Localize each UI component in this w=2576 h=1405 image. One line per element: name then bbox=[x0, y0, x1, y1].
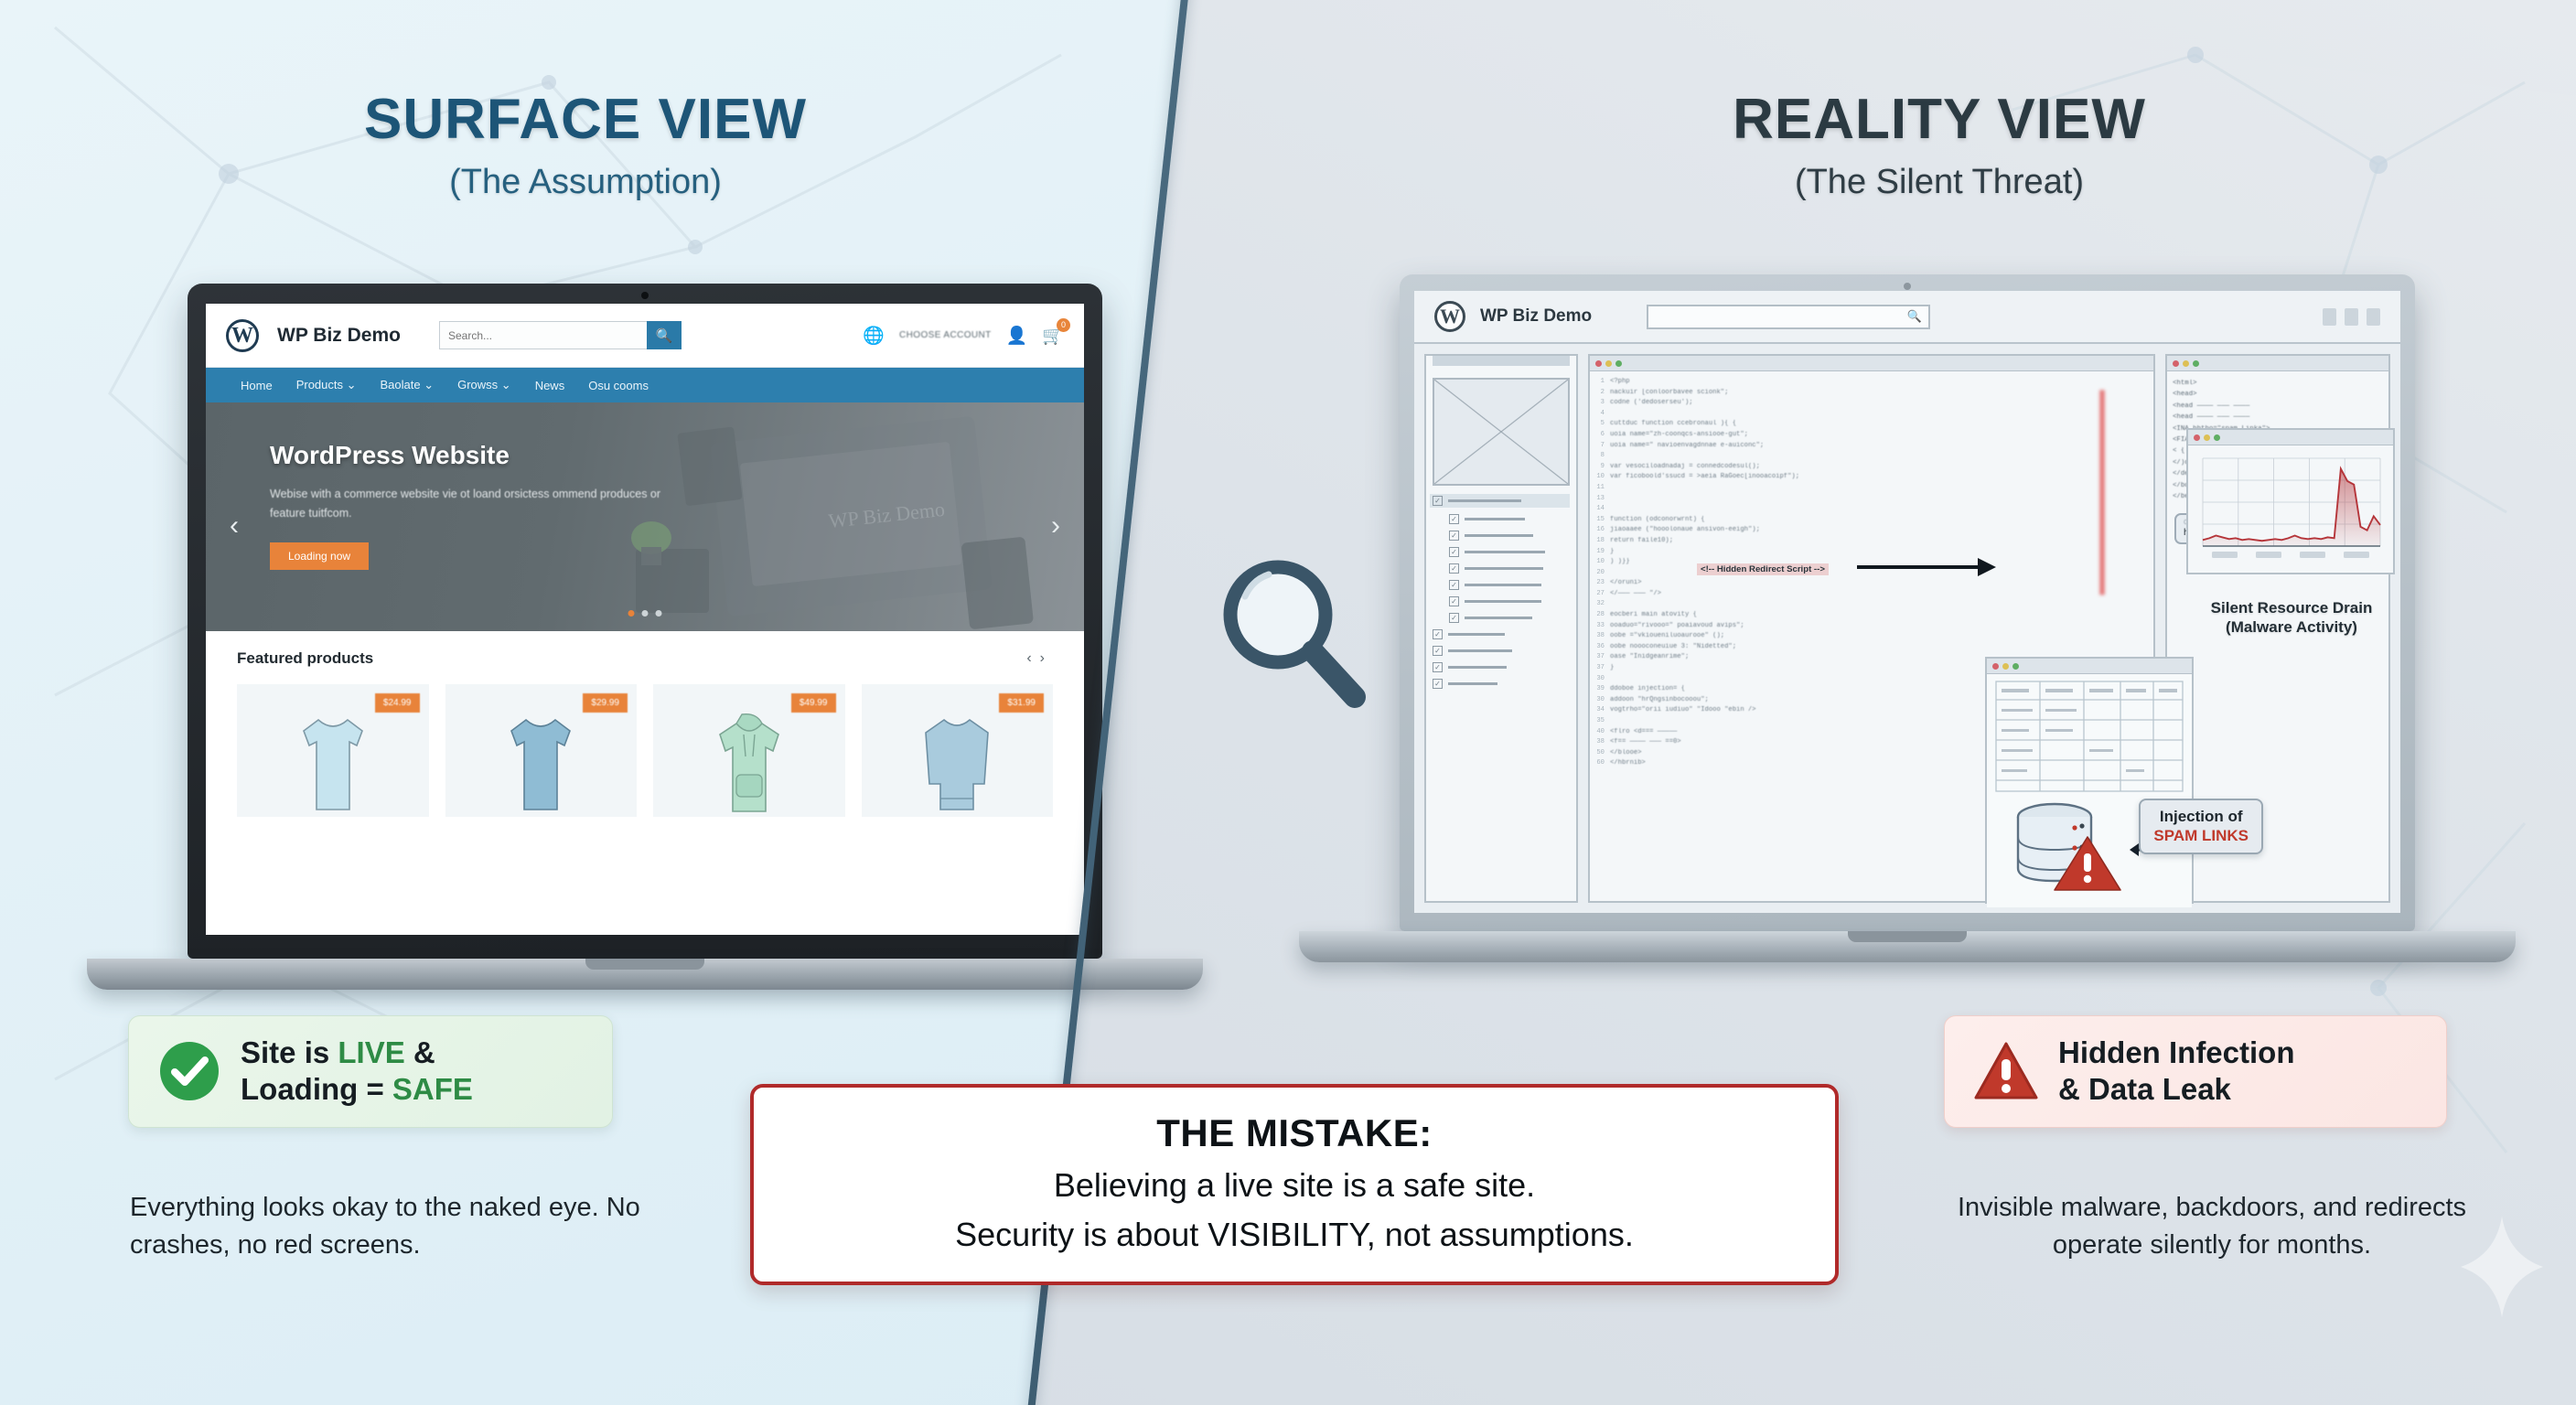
minimize-icon[interactable] bbox=[2183, 360, 2189, 367]
minimize-icon[interactable] bbox=[2204, 434, 2210, 441]
hero-banner: WP Biz Demo ‹ › WordPress Website Webise… bbox=[206, 402, 1084, 631]
wireframe-list: ✓ ✓ ✓ ✓ ✓ ✓ ✓ ✓ ✓ ✓ ✓ ✓ bbox=[1426, 492, 1576, 697]
product-card[interactable]: $24.99 bbox=[237, 684, 429, 817]
list-item[interactable]: ✓ bbox=[1430, 494, 1570, 508]
badge-line2-a: Loading = bbox=[241, 1072, 392, 1106]
list-item[interactable]: ✓ bbox=[1449, 613, 1570, 623]
nav-item-home[interactable]: Home bbox=[241, 379, 273, 392]
right-panel-heading: REALITY VIEW (The Silent Threat) bbox=[1583, 87, 2296, 202]
infected-site-header: W WP Biz Demo 🔍 bbox=[1414, 291, 2400, 344]
checkbox-icon[interactable]: ✓ bbox=[1433, 679, 1443, 689]
right-panel-blurb: Invisible malware, backdoors, and redire… bbox=[1937, 1189, 2486, 1264]
nav-item-baolate[interactable]: Baolate ⌄ bbox=[381, 378, 435, 392]
product-price: $49.99 bbox=[791, 693, 836, 713]
code-line: 6 uoia name="zh-coonqcs-ansiooe-gut"; bbox=[1590, 430, 2150, 441]
hero-paragraph: Webise with a commerce website vie ot lo… bbox=[270, 485, 672, 522]
code-line: 27 </——— ——— "/> bbox=[1590, 589, 2150, 600]
badge-line1-c: & bbox=[405, 1035, 435, 1069]
window-titlebar bbox=[1987, 659, 2192, 674]
checkbox-icon[interactable]: ✓ bbox=[1433, 646, 1443, 656]
check-circle-icon bbox=[156, 1038, 222, 1104]
checkbox-icon[interactable]: ✓ bbox=[1449, 547, 1459, 557]
hero-cta-button[interactable]: Loading now bbox=[270, 542, 369, 570]
spam-callout-line2: SPAM LINKS bbox=[2153, 827, 2249, 845]
code-line: 16 jiaoaaee ("hooolonaue ansivon-eeigh")… bbox=[1590, 525, 2150, 536]
code-line: 3codne ('dedoserseu'); bbox=[1590, 398, 2150, 409]
close-icon[interactable] bbox=[1992, 663, 1999, 670]
db-table-illustration bbox=[1987, 674, 2192, 903]
laptop-base-right bbox=[1299, 931, 2516, 962]
checkbox-icon[interactable]: ✓ bbox=[1433, 496, 1443, 506]
code-line: 13 bbox=[1590, 494, 2150, 505]
webcam-icon bbox=[641, 292, 649, 299]
chart-caption: Silent Resource Drain (Malware Activity) bbox=[2177, 599, 2406, 637]
wireframe-topbar bbox=[1433, 356, 1570, 366]
right-panel-title: REALITY VIEW bbox=[1583, 87, 2296, 152]
carousel-dot[interactable] bbox=[642, 610, 649, 617]
infographic-canvas: SURFACE VIEW (The Assumption) W WP Biz D… bbox=[0, 0, 2576, 1405]
webcam-icon bbox=[1904, 283, 1911, 290]
code-line: 1<?php bbox=[1590, 377, 2150, 388]
checkbox-icon[interactable]: ✓ bbox=[1449, 613, 1459, 623]
hoodie-icon bbox=[707, 707, 791, 817]
checkbox-icon[interactable]: ✓ bbox=[1449, 596, 1459, 606]
checkbox-icon[interactable]: ✓ bbox=[1433, 662, 1443, 672]
nav-item-osucooms[interactable]: Osu cooms bbox=[588, 379, 649, 392]
nav-item-products[interactable]: Products ⌄ bbox=[296, 378, 357, 392]
window-titlebar bbox=[1590, 356, 2153, 371]
code-line: 4 bbox=[1590, 409, 2150, 420]
tshirt-icon bbox=[291, 707, 375, 817]
carousel-dot[interactable] bbox=[656, 610, 662, 617]
image-placeholder-icon bbox=[1433, 378, 1570, 486]
mistake-line2: Security is about VISIBILITY, not assump… bbox=[781, 1216, 1808, 1254]
checkbox-icon[interactable]: ✓ bbox=[1449, 514, 1459, 524]
html-code-line: <head> bbox=[2173, 389, 2383, 400]
code-line: 33 ooaduo="rivooo=" poaiavoud avips"; bbox=[1590, 621, 2150, 632]
carousel-dot[interactable] bbox=[628, 610, 635, 617]
list-item[interactable]: ✓ bbox=[1449, 580, 1570, 590]
laptop-lid-left: W WP Biz Demo 🔍 🌐 CHOOSE ACCOUNT 👤 🛒 0 bbox=[188, 284, 1102, 959]
checkbox-icon[interactable]: ✓ bbox=[1449, 563, 1459, 574]
database-panel: Injection of SPAM LINKS bbox=[1985, 657, 2194, 904]
malware-activity-chart-window bbox=[2186, 428, 2395, 574]
list-item[interactable]: ✓ bbox=[1433, 679, 1570, 689]
code-line: 36 oobe noooconeuiue 3: "Nidetted"; bbox=[1590, 642, 2150, 653]
mistake-title: THE MISTAKE: bbox=[781, 1111, 1808, 1155]
nav-item-news[interactable]: News bbox=[535, 379, 565, 392]
maximize-icon[interactable] bbox=[1615, 360, 1622, 367]
maximize-icon[interactable] bbox=[2214, 434, 2220, 441]
spam-callout-line1: Injection of bbox=[2153, 808, 2249, 826]
nav-item-growss[interactable]: Growss ⌄ bbox=[457, 378, 511, 392]
product-price: $29.99 bbox=[583, 693, 628, 713]
code-line: 10 var ficoboold'ssucd = >aeia RaGoec[in… bbox=[1590, 472, 2150, 483]
code-line: 11 bbox=[1590, 483, 2150, 494]
danger-line1: Hidden Infection bbox=[2058, 1035, 2295, 1071]
html-code-line: <head ———— ——— ———— bbox=[2173, 401, 2383, 412]
checkbox-icon[interactable]: ✓ bbox=[1433, 629, 1443, 639]
wordpress-logo-icon: W bbox=[226, 319, 259, 352]
right-panel-subtitle: (The Silent Threat) bbox=[1583, 163, 2296, 202]
warning-triangle-icon bbox=[1972, 1039, 2040, 1103]
laptop-screen-left: W WP Biz Demo 🔍 🌐 CHOOSE ACCOUNT 👤 🛒 0 bbox=[206, 304, 1084, 935]
badge-live-word: LIVE bbox=[338, 1035, 404, 1069]
code-line: 38 oobe ="vkioueniluoaurooe" (); bbox=[1590, 631, 2150, 642]
list-item[interactable]: ✓ bbox=[1449, 563, 1570, 574]
sparkle-icon bbox=[2461, 1217, 2543, 1317]
list-item[interactable]: ✓ bbox=[1433, 629, 1570, 639]
featured-header: Featured products ‹› bbox=[237, 649, 1053, 668]
cart-icon[interactable]: 🛒 0 bbox=[1042, 325, 1064, 347]
left-panel-subtitle: (The Assumption) bbox=[256, 163, 915, 202]
code-line: 28 eocberi main atovity { bbox=[1590, 610, 2150, 621]
left-panel-heading: SURFACE VIEW (The Assumption) bbox=[256, 87, 915, 202]
badge-safe-word: SAFE bbox=[392, 1072, 473, 1106]
list-item[interactable]: ✓ bbox=[1449, 547, 1570, 557]
maximize-icon[interactable] bbox=[2012, 663, 2019, 670]
code-line: 2nackuir [conloorbavee scionk"; bbox=[1590, 388, 2150, 399]
wireframe-panel: ✓ ✓ ✓ ✓ ✓ ✓ ✓ ✓ ✓ ✓ ✓ ✓ bbox=[1424, 354, 1578, 903]
chart-plot-area bbox=[2188, 445, 2393, 574]
header-actions: 🌐 CHOOSE ACCOUNT 👤 🛒 0 bbox=[863, 325, 1064, 347]
laptop-base-left bbox=[87, 959, 1203, 990]
featured-heading: Featured products bbox=[237, 649, 373, 668]
product-price: $24.99 bbox=[375, 693, 420, 713]
sweater-icon bbox=[915, 707, 999, 817]
product-card[interactable]: $31.99 bbox=[862, 684, 1054, 817]
checkbox-icon[interactable]: ✓ bbox=[1449, 580, 1459, 590]
close-icon[interactable] bbox=[2173, 360, 2179, 367]
list-item[interactable]: ✓ bbox=[1449, 596, 1570, 606]
badge-line1-a: Site is bbox=[241, 1035, 338, 1069]
code-line: 32 bbox=[1590, 599, 2150, 610]
chart-caption-line1: Silent Resource Drain bbox=[2177, 599, 2406, 618]
html-code-line: <head ———— ——— ———— bbox=[2173, 412, 2383, 423]
search-input[interactable]: 🔍 bbox=[1647, 305, 1930, 329]
window-titlebar bbox=[2188, 430, 2393, 445]
code-line: 8 bbox=[1590, 451, 2150, 462]
checkbox-icon[interactable]: ✓ bbox=[1449, 531, 1459, 541]
user-icon[interactable]: 👤 bbox=[1006, 325, 1028, 347]
surface-view-laptop: W WP Biz Demo 🔍 🌐 CHOOSE ACCOUNT 👤 🛒 0 bbox=[188, 284, 1203, 990]
danger-status-badge: Hidden Infection & Data Leak bbox=[1944, 1015, 2447, 1128]
product-card[interactable]: $29.99 bbox=[445, 684, 638, 817]
left-panel-title: SURFACE VIEW bbox=[256, 87, 915, 152]
wordpress-logo-icon: W bbox=[1434, 301, 1465, 332]
code-line: 18 return faile10); bbox=[1590, 536, 2150, 547]
product-card[interactable]: $49.99 bbox=[653, 684, 845, 817]
search-icon[interactable]: 🔍 bbox=[647, 321, 682, 349]
left-panel-blurb: Everything looks okay to the naked eye. … bbox=[130, 1189, 642, 1264]
product-grid: $24.99 $29.99 $49.99 bbox=[237, 684, 1053, 817]
code-line: 9 var vesociloadnadaj = connedcodesul(); bbox=[1590, 462, 2150, 473]
hidden-redirect-text: <!-- Hidden Redirect Script --> bbox=[1697, 563, 1829, 575]
featured-carousel-arrows[interactable]: ‹› bbox=[1026, 650, 1053, 667]
cart-count-badge: 0 bbox=[1057, 318, 1070, 332]
site-header: W WP Biz Demo 🔍 🌐 CHOOSE ACCOUNT 👤 🛒 0 bbox=[206, 304, 1084, 368]
window-controls[interactable] bbox=[2323, 308, 2380, 326]
list-item[interactable]: ✓ bbox=[1433, 662, 1570, 672]
featured-products-section: Featured products ‹› $24.99 $29.99 bbox=[206, 631, 1084, 817]
maximize-icon[interactable] bbox=[2193, 360, 2199, 367]
list-item[interactable]: ✓ bbox=[1449, 514, 1570, 524]
tshirt-icon bbox=[499, 707, 583, 817]
site-navigation[interactable]: Home Products ⌄ Baolate ⌄ Growss ⌄ News … bbox=[206, 368, 1084, 402]
carousel-dots[interactable] bbox=[628, 610, 662, 617]
resource-usage-chart bbox=[2195, 453, 2386, 563]
hero-heading: WordPress Website bbox=[270, 441, 672, 470]
safe-badge-text: Site is LIVE & Loading = SAFE bbox=[241, 1035, 473, 1109]
close-icon[interactable] bbox=[1595, 360, 1602, 367]
product-price: $31.99 bbox=[999, 693, 1044, 713]
code-line: 5cuttduc function ccebronaul ){ { bbox=[1590, 419, 2150, 430]
globe-icon[interactable]: 🌐 bbox=[863, 325, 885, 347]
mistake-callout-box: THE MISTAKE: Believing a live site is a … bbox=[750, 1084, 1839, 1285]
magnifying-glass-icon bbox=[1212, 549, 1377, 723]
code-line: 15 function (odconorwrnt) { bbox=[1590, 515, 2150, 526]
site-brand: WP Biz Demo bbox=[277, 325, 401, 347]
code-line: 14 bbox=[1590, 504, 2150, 515]
hero-content: WordPress Website Webise with a commerce… bbox=[270, 441, 672, 570]
mistake-line1: Believing a live site is a safe site. bbox=[781, 1166, 1808, 1205]
redirect-arrow-icon bbox=[1857, 549, 2003, 585]
site-search[interactable]: 🔍 bbox=[439, 321, 682, 349]
html-code-line: <html> bbox=[2173, 378, 2383, 389]
safe-status-badge: Site is LIVE & Loading = SAFE bbox=[128, 1015, 613, 1128]
site-brand: WP Biz Demo bbox=[1480, 306, 1592, 327]
chart-caption-line2: (Malware Activity) bbox=[2177, 618, 2406, 638]
list-item[interactable]: ✓ bbox=[1449, 531, 1570, 541]
close-icon[interactable] bbox=[2194, 434, 2200, 441]
window-titlebar bbox=[2167, 356, 2388, 371]
search-input[interactable] bbox=[439, 321, 647, 349]
danger-badge-text: Hidden Infection & Data Leak bbox=[2058, 1035, 2295, 1109]
code-line: 7 uoia name=" navioenvagdnnae e-auiconc"… bbox=[1590, 441, 2150, 452]
spam-links-callout: Injection of SPAM LINKS bbox=[2139, 799, 2263, 854]
danger-line2: & Data Leak bbox=[2058, 1071, 2295, 1108]
chevron-left-icon[interactable]: ‹ bbox=[230, 510, 239, 542]
chevron-right-icon[interactable]: › bbox=[1051, 510, 1060, 542]
list-item[interactable]: ✓ bbox=[1433, 646, 1570, 656]
database-table-area bbox=[1987, 674, 2192, 907]
minimize-icon[interactable] bbox=[1605, 360, 1612, 367]
account-label[interactable]: CHOOSE ACCOUNT bbox=[899, 330, 992, 340]
minimize-icon[interactable] bbox=[2002, 663, 2009, 670]
